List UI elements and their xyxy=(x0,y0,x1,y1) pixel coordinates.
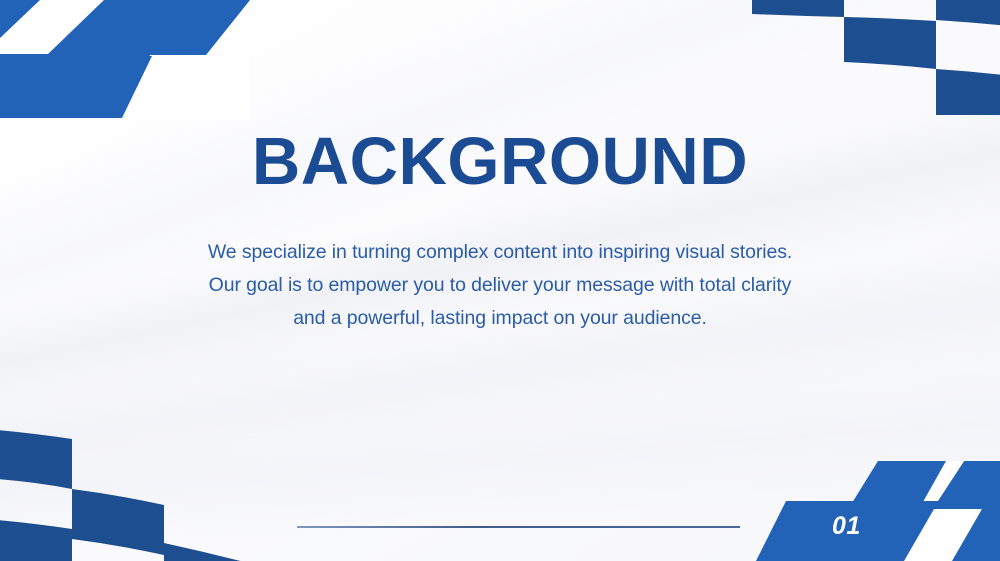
top-right-checker-decoration xyxy=(740,0,1000,115)
top-left-stripe-decoration xyxy=(0,0,250,120)
slide-content: BACKGROUND We specialize in turning comp… xyxy=(0,128,1000,335)
footer-divider-line xyxy=(297,526,740,528)
slide-canvas: BACKGROUND We specialize in turning comp… xyxy=(0,0,1000,561)
bottom-left-checker-decoration xyxy=(0,421,260,561)
slide-body-text: We specialize in turning complex content… xyxy=(205,236,795,335)
bottom-right-banner-decoration xyxy=(720,461,1000,561)
page-title: BACKGROUND xyxy=(0,128,1000,196)
page-number: 01 xyxy=(832,512,861,541)
